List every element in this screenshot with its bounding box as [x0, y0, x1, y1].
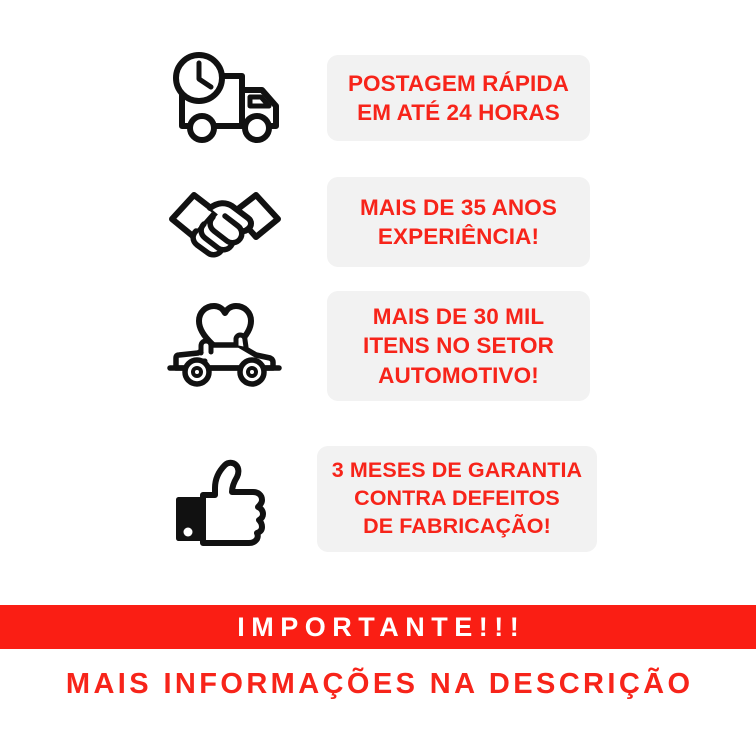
- description-note-text: MAIS INFORMAÇÕES NA DESCRIÇÃO: [63, 670, 694, 699]
- handshake-icon: [160, 170, 290, 274]
- benefit-item-fast-shipping: POSTAGEM RÁPIDA EM ATÉ 24 HORAS: [160, 42, 620, 154]
- benefit-label-experience: MAIS DE 35 ANOS EXPERIÊNCIA!: [327, 177, 590, 267]
- benefit-label-line: MAIS DE 35 ANOS: [360, 193, 557, 222]
- benefit-label-fast-shipping: POSTAGEM RÁPIDA EM ATÉ 24 HORAS: [327, 55, 590, 141]
- important-banner-text: IMPORTANTE!!!: [231, 614, 525, 641]
- benefit-label-line: ITENS NO SETOR: [363, 331, 554, 360]
- benefit-item-experience: MAIS DE 35 ANOS EXPERIÊNCIA!: [160, 170, 620, 274]
- benefit-label-line: AUTOMOTIVO!: [378, 361, 539, 390]
- benefit-label-catalog: MAIS DE 30 MIL ITENS NO SETOR AUTOMOTIVO…: [327, 291, 590, 401]
- thumbs-up-icon: [160, 440, 290, 558]
- benefit-label-line: DE FABRICAÇÃO!: [363, 513, 551, 541]
- important-banner: IMPORTANTE!!!: [0, 605, 756, 649]
- benefit-label-line: EM ATÉ 24 HORAS: [357, 98, 560, 127]
- benefit-label-line: POSTAGEM RÁPIDA: [348, 69, 569, 98]
- promo-banner-page: POSTAGEM RÁPIDA EM ATÉ 24 HORAS: [0, 0, 756, 756]
- benefit-item-catalog: MAIS DE 30 MIL ITENS NO SETOR AUTOMOTIVO…: [160, 288, 620, 404]
- car-heart-icon: [160, 288, 290, 404]
- benefit-item-warranty: 3 MESES DE GARANTIA CONTRA DEFEITOS DE F…: [160, 440, 620, 558]
- benefit-label-warranty: 3 MESES DE GARANTIA CONTRA DEFEITOS DE F…: [317, 446, 597, 552]
- benefits-list: POSTAGEM RÁPIDA EM ATÉ 24 HORAS: [0, 0, 756, 596]
- benefit-label-line: MAIS DE 30 MIL: [373, 302, 544, 331]
- delivery-truck-clock-icon: [160, 42, 290, 154]
- benefit-label-line: 3 MESES DE GARANTIA: [332, 457, 582, 485]
- benefit-label-line: CONTRA DEFEITOS: [354, 485, 560, 513]
- description-note: MAIS INFORMAÇÕES NA DESCRIÇÃO: [0, 660, 756, 708]
- benefit-label-line: EXPERIÊNCIA!: [378, 222, 539, 251]
